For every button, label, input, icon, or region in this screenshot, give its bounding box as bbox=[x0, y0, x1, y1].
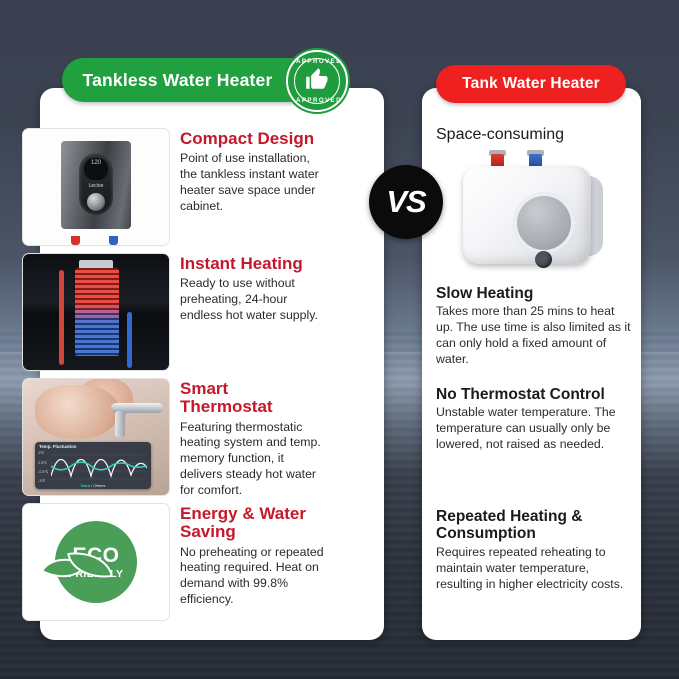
tankless-display-screen: 120 bbox=[84, 158, 108, 180]
feature-title: Instant Heating bbox=[180, 255, 324, 273]
seal-arc-bottom-label: APPROVED bbox=[288, 97, 348, 104]
feature-body: Point of use installation, the tankless … bbox=[180, 151, 324, 214]
tank-block-slow-heating: Slow Heating Takes more than 25 mins to … bbox=[436, 285, 632, 368]
tankless-heater-product-photo: 120 Lecloe bbox=[22, 128, 170, 246]
feature-row-smart-thermostat: Temp. Fluctuation 3℃ 0.5℃ -0.5℃ -3℃ Ours… bbox=[22, 378, 324, 498]
hot-water-pipe-icon bbox=[71, 236, 80, 245]
hands-shape bbox=[35, 385, 119, 439]
feature-title: Smart Thermostat bbox=[180, 380, 324, 417]
tank-block-body: Unstable water temperature. The temperat… bbox=[436, 405, 632, 453]
tankless-control-knob bbox=[87, 193, 105, 211]
tank-block-title: Space-consuming bbox=[436, 126, 632, 144]
chart-legend: Ours / Others bbox=[35, 483, 151, 488]
tank-block-title: No Thermostat Control bbox=[436, 386, 632, 403]
cold-water-pipe-icon bbox=[109, 236, 118, 245]
tank-water-heater-product-photo bbox=[455, 150, 615, 270]
hot-tube-shape bbox=[59, 270, 64, 365]
vs-label: VS bbox=[386, 184, 425, 220]
tankless-brand-label: Lecloe bbox=[79, 183, 113, 189]
chart-ytick-0: 3℃ bbox=[38, 451, 44, 455]
feature-title: Energy & Water Saving bbox=[180, 505, 324, 542]
feature-row-instant-heating: Instant Heating Ready to use without pre… bbox=[22, 253, 324, 371]
chart-ytick-2: -0.5℃ bbox=[38, 470, 48, 474]
heat-exchanger-core bbox=[75, 268, 119, 356]
heat-exchanger-coil-photo bbox=[22, 253, 170, 371]
tank-header-pill: Tank Water Heater bbox=[436, 65, 626, 103]
tank-block-repeated-heating: Repeated Heating & Consumption Requires … bbox=[436, 508, 632, 593]
tankless-control-panel: 120 Lecloe bbox=[79, 153, 113, 215]
vs-badge: VS bbox=[369, 165, 443, 239]
faucet-neck-shape bbox=[115, 411, 125, 437]
approved-seal-badge: APPROVED APPROVED bbox=[286, 50, 348, 112]
tank-block-title: Slow Heating bbox=[436, 285, 632, 302]
cold-tube-shape bbox=[127, 312, 132, 368]
feature-body: No preheating or repeated heating requir… bbox=[180, 545, 324, 608]
tank-dial-shape bbox=[513, 192, 575, 254]
tankless-header-pill: Tankless Water Heater bbox=[62, 58, 315, 102]
tank-block-body: Requires repeated reheating to maintain … bbox=[436, 545, 632, 593]
seal-arc-top-label: APPROVED bbox=[288, 58, 348, 65]
tank-block-no-thermostat-control: No Thermostat Control Unstable water tem… bbox=[436, 386, 632, 453]
temp-fluctuation-chart: Temp. Fluctuation 3℃ 0.5℃ -0.5℃ -3℃ Ours… bbox=[35, 442, 151, 489]
coil-fins-texture bbox=[75, 268, 119, 356]
tankless-header-title: Tankless Water Heater bbox=[83, 70, 273, 91]
chart-plot-area bbox=[51, 451, 147, 483]
tank-block-title: Repeated Heating & Consumption bbox=[436, 508, 632, 543]
tank-knob-icon bbox=[535, 251, 552, 268]
chart-legend-others: Others bbox=[93, 483, 105, 488]
eco-friendly-badge: ECO FRIENDLY bbox=[22, 503, 170, 621]
tank-block-body: Takes more than 25 mins to heat up. The … bbox=[436, 304, 632, 368]
tank-header-title: Tank Water Heater bbox=[462, 75, 600, 93]
tankless-unit-shape: 120 Lecloe bbox=[61, 141, 131, 229]
feature-body: Ready to use without preheating, 24-hour… bbox=[180, 276, 324, 323]
thumbs-up-icon bbox=[304, 66, 330, 96]
feature-row-energy-water-saving: ECO FRIENDLY Energy & Water Saving No pr… bbox=[22, 503, 324, 621]
hands-washing-under-faucet-photo: Temp. Fluctuation 3℃ 0.5℃ -0.5℃ -3℃ Ours… bbox=[22, 378, 170, 496]
feature-title: Compact Design bbox=[180, 130, 324, 148]
tank-block-space-consuming: Space-consuming bbox=[436, 126, 632, 144]
chart-legend-ours: Ours bbox=[81, 483, 90, 488]
feature-row-compact-design: 120 Lecloe Compact Design Point of use i… bbox=[22, 128, 324, 246]
chart-ytick-1: 0.5℃ bbox=[38, 461, 47, 465]
chart-title: Temp. Fluctuation bbox=[39, 444, 76, 449]
feature-body: Featuring thermostatic heating system an… bbox=[180, 420, 324, 499]
